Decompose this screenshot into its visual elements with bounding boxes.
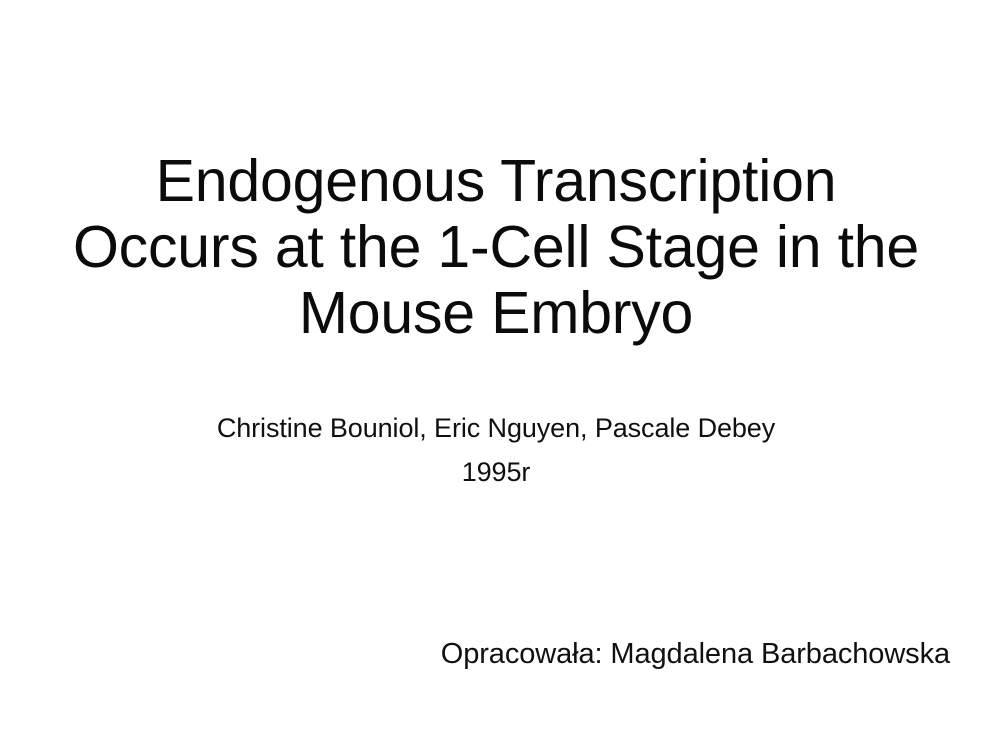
- year-line: 1995r: [60, 450, 932, 494]
- presentation-title-slide: Endogenous Transcription Occurs at the 1…: [0, 0, 992, 744]
- title-line-3: Mouse Embryo: [60, 280, 932, 346]
- slide-title: Endogenous Transcription Occurs at the 1…: [60, 148, 932, 346]
- slide-subtitle: Christine Bouniol, Eric Nguyen, Pascale …: [60, 406, 932, 494]
- attribution-text: Opracowała: Magdalena Barbachowska: [441, 636, 950, 672]
- authors-line: Christine Bouniol, Eric Nguyen, Pascale …: [60, 406, 932, 450]
- title-line-1: Endogenous Transcription: [60, 148, 932, 214]
- title-line-2: Occurs at the 1-Cell Stage in the: [60, 214, 932, 280]
- slide-attribution: Opracowała: Magdalena Barbachowska: [60, 636, 950, 672]
